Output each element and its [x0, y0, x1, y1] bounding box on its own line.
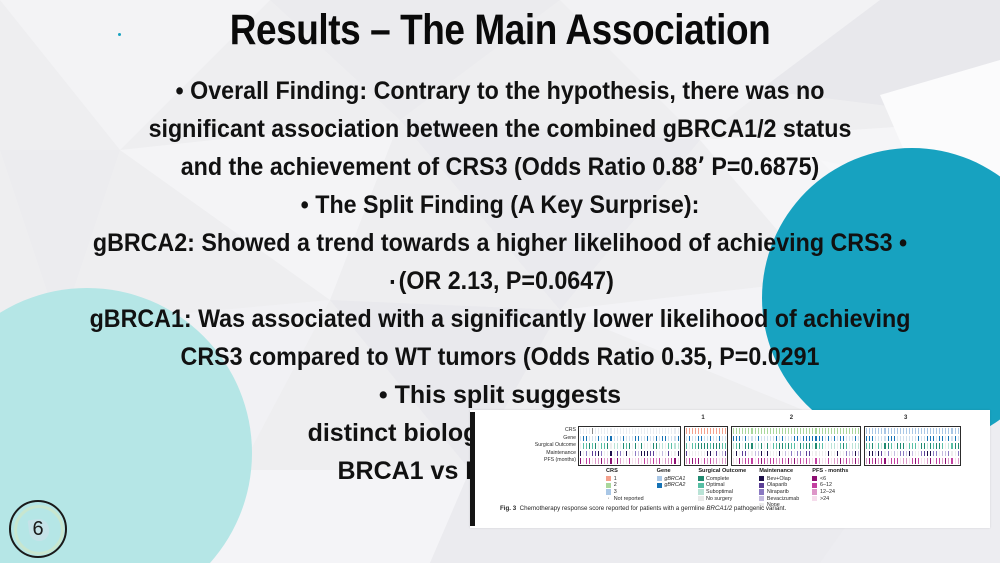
heatmap-row-label: Surgical Outcome [478, 442, 576, 450]
legend-label: gBRCA2 [664, 482, 685, 488]
figure-caption-text-1: Chemotherapy response score reported for… [520, 505, 707, 512]
heatmap-row [685, 457, 728, 465]
legend-swatch [812, 496, 817, 501]
body-line-2: significant association between the comb… [35, 110, 965, 148]
legend-item: 2 [606, 482, 644, 489]
legend-item: gBRCA2 [657, 482, 686, 489]
heatmap-row [865, 427, 959, 435]
heatmap-cell [677, 442, 680, 450]
legend-label: Bevacizumab [767, 496, 799, 502]
figure-caption: Fig. 3 Chemotherapy response score repor… [500, 505, 984, 512]
legend-item: Bevacizumab [759, 495, 799, 502]
figure-page-gutter [470, 412, 475, 526]
legend-swatch [606, 483, 611, 488]
heatmap-cell [724, 457, 727, 465]
legend-label: <6 [820, 476, 826, 482]
legend-swatch [759, 483, 764, 488]
body-line-6: ٠(OR 2.13, P=0.0647) [35, 262, 965, 300]
heatmap-cell [677, 450, 680, 458]
heatmap-row [865, 450, 959, 458]
heatmap-group-block [731, 426, 861, 466]
heatmap-cell [677, 427, 680, 435]
heatmap-row [579, 427, 680, 435]
legend-label: 12–24 [820, 489, 835, 495]
heatmap-cell [957, 442, 960, 450]
legend-item: Complete [698, 476, 746, 483]
legend-swatch [759, 476, 764, 481]
heatmap-row [685, 435, 728, 443]
heatmap-row [579, 435, 680, 443]
heatmap-chart: CRSGeneSurgical OutcomeMaintenancePFS (m… [478, 414, 982, 468]
heatmap-cell [857, 450, 860, 458]
body-line-8: CRS3 compared to WT tumors (Odds Ratio 0… [35, 338, 965, 376]
heatmap-row [685, 450, 728, 458]
legend-swatch [698, 496, 703, 501]
body-line-3: and the achievement of CRS3 (Odds Ratio … [35, 148, 965, 186]
embedded-figure[interactable]: CRSGeneSurgical OutcomeMaintenancePFS (m… [470, 410, 990, 528]
heatmap-cell [957, 457, 960, 465]
heatmap-cell [957, 450, 960, 458]
heatmap-row [865, 442, 959, 450]
legend-item: Niraparib [759, 489, 799, 496]
heatmap-row [732, 427, 860, 435]
legend-item: Bev+Olap [759, 476, 799, 483]
legend-label: Not reported [614, 496, 644, 502]
legend-item: gBRCA1 [657, 476, 686, 483]
legend-label: Suboptimal [706, 489, 733, 495]
heatmap-row [685, 427, 728, 435]
legend-title: CRS [606, 468, 644, 474]
page-number-badge: 6 [9, 500, 67, 558]
legend-label: Optimal [706, 482, 725, 488]
page-title: Results – The Main Association [70, 6, 930, 55]
figure-caption-gene: BRCA1/2 [706, 505, 732, 512]
legend-label: Niraparib [767, 489, 789, 495]
heatmap-cell [957, 435, 960, 443]
legend-swatch [657, 483, 662, 488]
legend-swatch [812, 489, 817, 494]
heatmap-row [579, 450, 680, 458]
heatmap-row [732, 442, 860, 450]
heatmap-group-label: 1 [693, 415, 713, 421]
legend-column: MaintenanceBev+OlapOlaparibNiraparibBeva… [759, 468, 799, 508]
legend-item: No surgery [698, 495, 746, 502]
heatmap-group-label: 2 [781, 415, 801, 421]
heatmap-row [732, 435, 860, 443]
legend-label: gBRCA1 [664, 476, 685, 482]
body-line-5: gBRCA2: Showed a trend towards a higher … [35, 224, 965, 262]
legend-label: 2 [614, 482, 617, 488]
legend-swatch [759, 489, 764, 494]
heatmap-group-block [578, 426, 681, 466]
legend-swatch [657, 476, 662, 481]
heatmap-group-label: 3 [896, 415, 916, 421]
legend-label: Bev+Olap [767, 476, 791, 482]
legend-item: >24 [812, 495, 848, 502]
heatmap-row [579, 457, 680, 465]
legend-item: 6–12 [812, 482, 848, 489]
legend-label: 1 [614, 476, 617, 482]
legend-label: >24 [820, 496, 829, 502]
heatmap-cell [724, 442, 727, 450]
legend-label: 3 [614, 489, 617, 495]
heatmap-row [732, 450, 860, 458]
heatmap-body [578, 426, 982, 466]
heatmap-cell [857, 435, 860, 443]
legend-title: Surgical Outcome [698, 468, 746, 474]
heatmap-row [685, 442, 728, 450]
heatmap-cell [677, 435, 680, 443]
body-line-7: gBRCA1: Was associated with a significan… [35, 300, 965, 338]
legend-column: PFS - months<66–1212–24>24 [812, 468, 848, 508]
legend-item: ·Not reported [606, 495, 644, 502]
figure-legend: CRS123·Not reportedGenegBRCA1gBRCA2Surgi… [606, 468, 986, 508]
heatmap-row-label: PFS (months) [478, 457, 576, 465]
heatmap-cell [857, 457, 860, 465]
legend-title: Maintenance [759, 468, 799, 474]
legend-label: Complete [706, 476, 729, 482]
heatmap-row-label: Maintenance [478, 450, 576, 458]
heatmap-row [732, 457, 860, 465]
legend-swatch [812, 483, 817, 488]
legend-item: Olaparib [759, 482, 799, 489]
legend-column: Surgical OutcomeCompleteOptimalSuboptima… [698, 468, 746, 508]
heatmap-cell [957, 427, 960, 435]
legend-column: GenegBRCA1gBRCA2 [657, 468, 686, 508]
legend-label: Olaparib [767, 482, 787, 488]
legend-title: PFS - months [812, 468, 848, 474]
body-line-9: • This split suggests [0, 376, 1000, 414]
legend-item: <6 [812, 476, 848, 483]
heatmap-cell [724, 427, 727, 435]
legend-label: No surgery [706, 496, 732, 502]
legend-swatch [698, 483, 703, 488]
legend-item: Suboptimal [698, 489, 746, 496]
figure-caption-label: Fig. 3 [500, 505, 516, 512]
legend-swatch [698, 489, 703, 494]
legend-item: Optimal [698, 482, 746, 489]
heatmap-row [865, 435, 959, 443]
legend-label: 6–12 [820, 482, 832, 488]
legend-not-reported-dot-icon: · [606, 496, 611, 501]
heatmap-cell [677, 457, 680, 465]
legend-swatch [606, 489, 611, 494]
legend-title: Gene [657, 468, 686, 474]
body-line-4: • The Split Finding (A Key Surprise): [35, 186, 965, 224]
body-line-1: • Overall Finding: Contrary to the hypot… [35, 72, 965, 110]
slide-canvas: Results – The Main Association • Overall… [0, 0, 1000, 563]
legend-swatch [812, 476, 817, 481]
legend-swatch [606, 476, 611, 481]
heatmap-row [865, 457, 959, 465]
figure-caption-text-2: pathogenic variant. [732, 505, 786, 512]
heatmap-group-block [864, 426, 960, 466]
heatmap-row-label: Gene [478, 435, 576, 443]
legend-item: 3 [606, 489, 644, 496]
legend-item: 1 [606, 476, 644, 483]
heatmap-cell [857, 427, 860, 435]
legend-swatch [759, 496, 764, 501]
heatmap-cell [724, 450, 727, 458]
heatmap-row-labels: CRSGeneSurgical OutcomeMaintenancePFS (m… [478, 427, 576, 465]
heatmap-row [579, 442, 680, 450]
heatmap-row-label: CRS [478, 427, 576, 435]
legend-swatch [698, 476, 703, 481]
heatmap-cell [724, 435, 727, 443]
legend-column: CRS123·Not reported [606, 468, 644, 508]
legend-item: 12–24 [812, 489, 848, 496]
heatmap-cell [857, 442, 860, 450]
heatmap-group-block [684, 426, 729, 466]
